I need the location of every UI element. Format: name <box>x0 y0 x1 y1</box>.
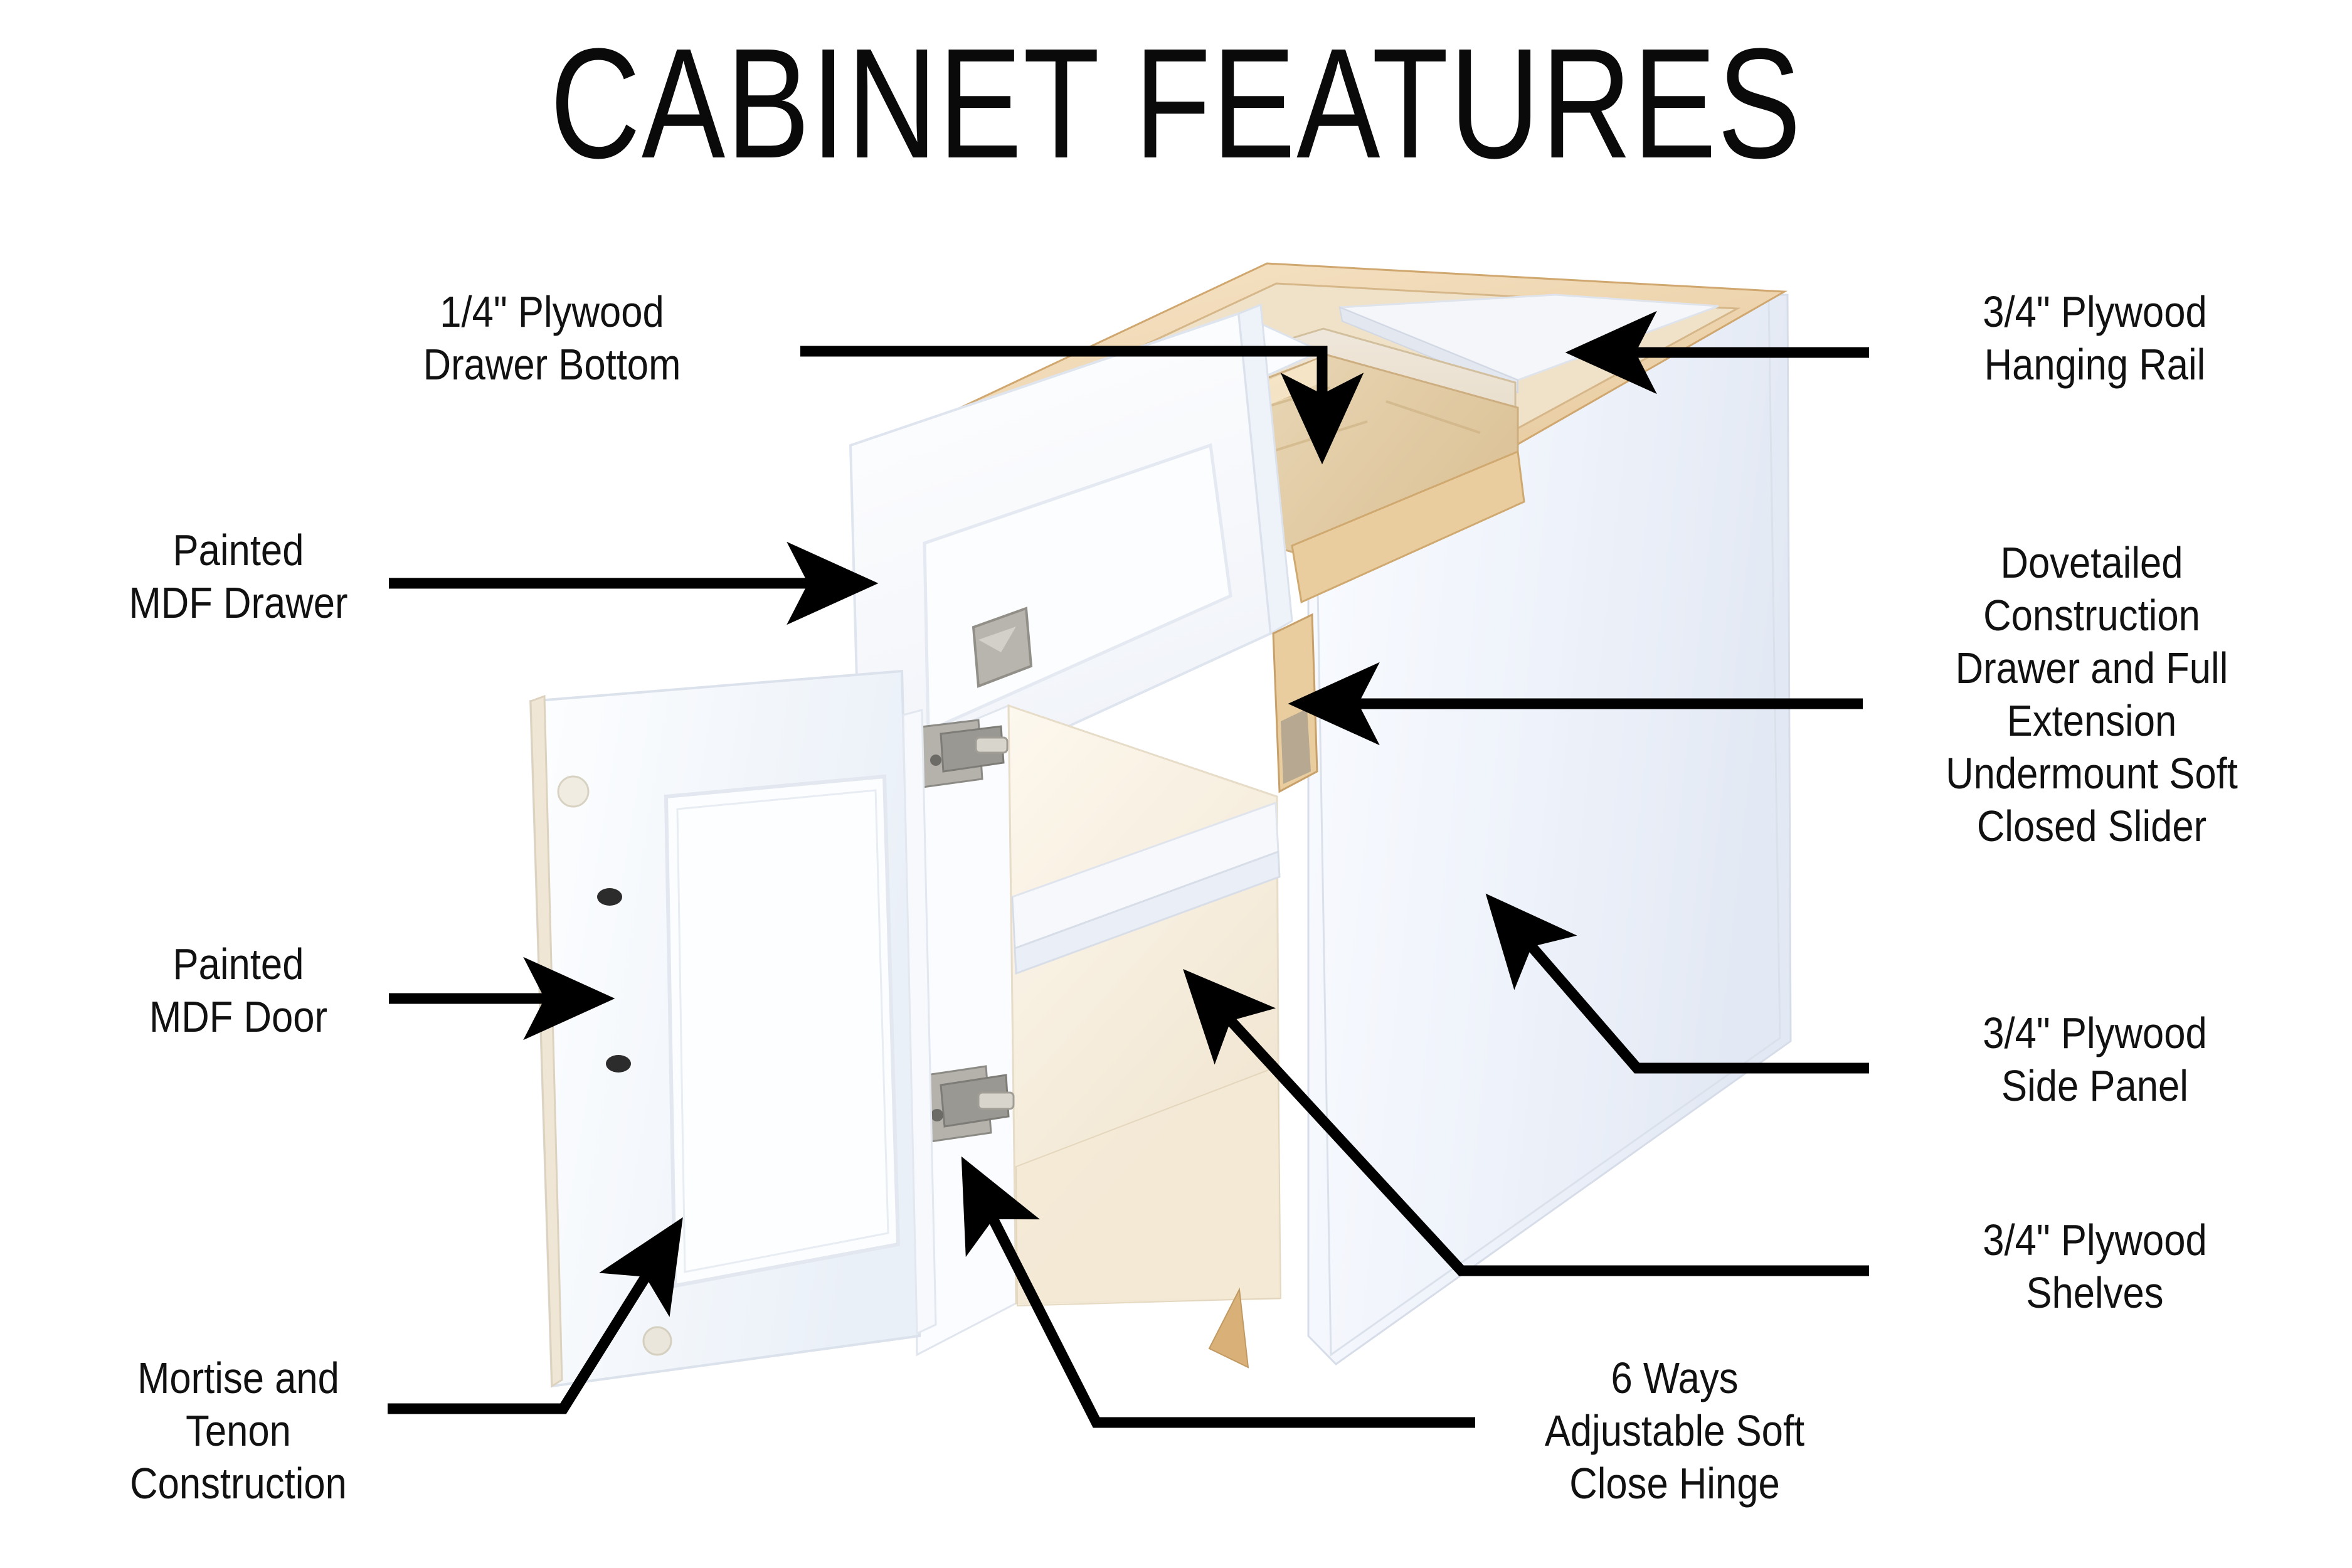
label-soft-close-hinge: 6 Ways Adjustable Soft Close Hinge <box>1481 1352 1868 1510</box>
label-side-panel: 3/4" Plywood Side Panel <box>1913 1007 2277 1112</box>
slider-metal <box>1281 709 1311 784</box>
label-shelves: 3/4" Plywood Shelves <box>1913 1214 2277 1319</box>
door-panel-inner-bevel <box>677 790 888 1272</box>
bottom-plywood-sliver <box>1209 1290 1248 1367</box>
label-painted-mdf-drawer: Painted MDF Drawer <box>61 524 415 629</box>
label-painted-mdf-door: Painted MDF Door <box>61 938 415 1043</box>
cabinet-body <box>531 263 1791 1386</box>
label-hanging-rail: 3/4" Plywood Hanging Rail <box>1913 285 2277 391</box>
label-mortise-tenon: Mortise and Tenon Construction <box>61 1352 415 1510</box>
label-dovetailed-construction: Dovetailed Construction Drawer and Full … <box>1890 536 2293 852</box>
label-drawer-bottom: 1/4" Plywood Drawer Bottom <box>375 285 728 391</box>
